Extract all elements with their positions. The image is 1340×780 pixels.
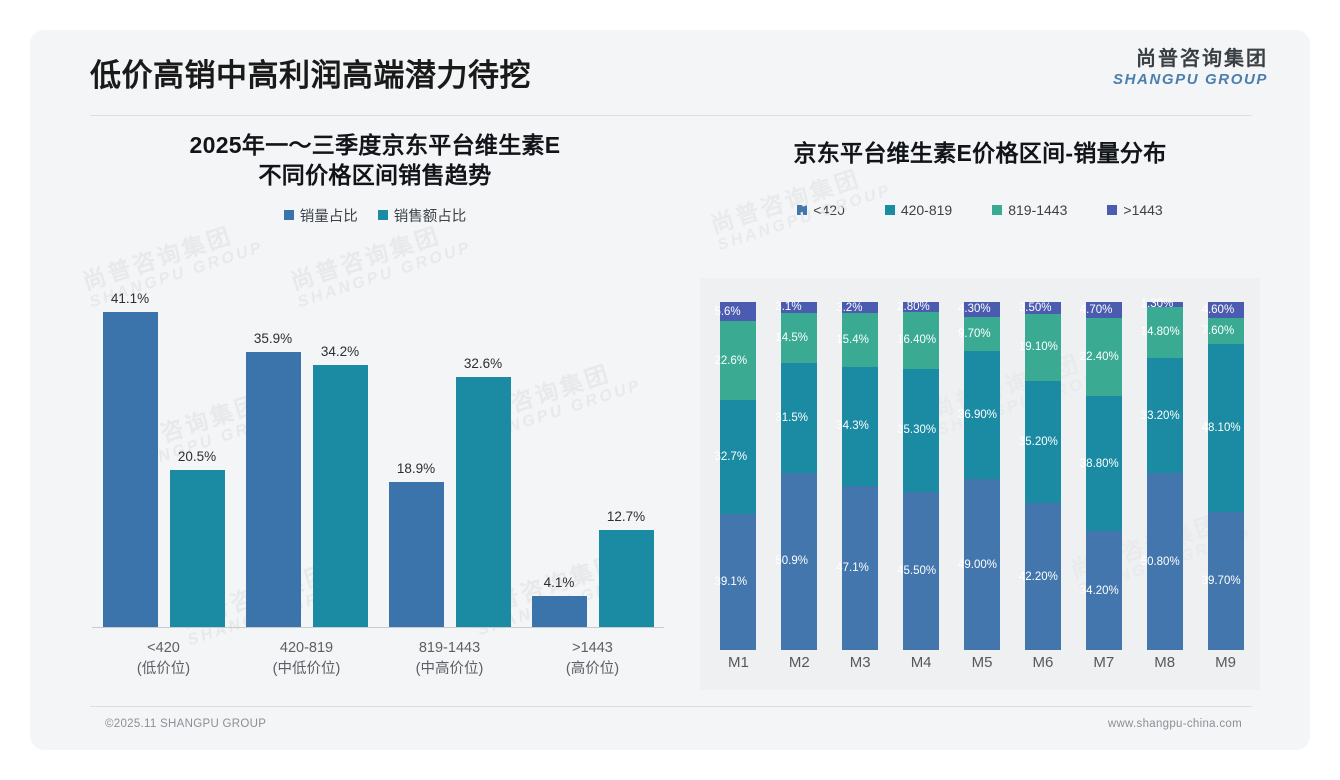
stack-segment-label: 4.70% [1080, 304, 1128, 316]
right-chart-plot: 5.6%22.6%32.7%39.1%3.1%14.5%31.5%50.9%3.… [708, 280, 1256, 690]
stacked-bar-M6[interactable]: 3.50%19.10%35.20%42.20% [1025, 302, 1061, 650]
bar-rect [532, 596, 587, 627]
stacked-bar-M8[interactable]: 1.30%14.80%33.20%50.80% [1147, 302, 1183, 650]
stack-segment-M7->1443: 4.70% [1086, 302, 1122, 318]
stack-segment-label: 19.10% [1019, 341, 1067, 353]
stack-segment-M6-<420: 42.20% [1025, 503, 1061, 650]
bar-value-label: 18.9% [397, 461, 435, 476]
bar-<420-销售额占比[interactable]: 20.5% [170, 282, 225, 627]
stack-segment-label: 45.50% [897, 565, 945, 577]
x-axis-label-819-1443: 819-1443(中高价位) [378, 630, 521, 688]
stack-segment-M2-819-1443: 14.5% [781, 313, 817, 363]
footer-website: www.shangpu-china.com [1108, 718, 1242, 730]
stack-segment-M8-819-1443: 14.80% [1147, 307, 1183, 358]
x-axis-label-<420: <420(低价位) [92, 630, 235, 688]
bar-value-label: 41.1% [111, 291, 149, 306]
x-axis-label-M3: M3 [830, 654, 891, 684]
stack-segment-label: 15.4% [836, 334, 884, 346]
stack-segment-M1-420-819: 32.7% [720, 400, 756, 514]
legend-swatch-icon [797, 205, 807, 215]
right-chart-panel: 尚普咨询集团 SHANGPU GROUP 尚普咨询集团 SHANGPU GROU… [680, 130, 1280, 690]
legend-item-2[interactable]: 销售额占比 [378, 205, 467, 226]
stack-segment-M6->1443: 3.50% [1025, 302, 1061, 314]
legend-item-3[interactable]: 819-1443 [992, 202, 1067, 218]
stack-segment-M5->1443: 4.30% [964, 302, 1000, 317]
stack-segment-label: 4.60% [1202, 304, 1250, 316]
legend-swatch-icon [378, 210, 388, 220]
stack-segment-M4-<420: 45.50% [903, 492, 939, 650]
bar->1443-销量占比[interactable]: 4.1% [532, 282, 587, 627]
bar-value-label: 32.6% [464, 356, 502, 371]
left-chart-plot: 41.1%20.5%35.9%34.2%18.9%32.6%4.1%12.7% … [92, 282, 664, 690]
x-axis-label-420-819: 420-819(中低价位) [235, 630, 378, 688]
left-chart-title-line1: 2025年一～三季度京东平台维生素E [70, 130, 680, 160]
x-axis-label-M8: M8 [1134, 654, 1195, 684]
bar-rect [456, 377, 511, 627]
bar-value-label: 12.7% [607, 509, 645, 524]
legend-item-2[interactable]: 420-819 [885, 202, 952, 218]
stack-column-M5: 4.30%9.70%36.90%49.00% [952, 302, 1013, 650]
slide-header: 低价高销中高利润高端潜力待挖 尚普咨询集团 SHANGPU GROUP [30, 30, 1310, 118]
bar-value-label: 20.5% [178, 449, 216, 464]
stack-segment-M3-819-1443: 15.4% [842, 313, 878, 367]
stack-segment-label: 39.1% [714, 576, 762, 588]
bar-group-<420: 41.1%20.5% [92, 282, 235, 627]
right-chart-legend: <420420-819819-1443>1443 [680, 202, 1280, 218]
left-chart-panel: 尚普咨询集团 SHANGPU GROUP 尚普咨询集团 SHANGPU GROU… [70, 130, 680, 690]
stack-column-M2: 3.1%14.5%31.5%50.9% [769, 302, 830, 650]
right-chart-title: 京东平台维生素E价格区间-销量分布 [680, 130, 1280, 168]
stack-segment-M3->1443: 3.2% [842, 302, 878, 313]
stack-segment-M8-420-819: 33.20% [1147, 358, 1183, 473]
stack-segment-M4->1443: 2.80% [903, 302, 939, 312]
bar-rect [246, 352, 301, 627]
left-chart-title: 2025年一～三季度京东平台维生素E 不同价格区间销售趋势 [70, 130, 680, 191]
stack-segment-label: 3.1% [775, 301, 823, 313]
legend-label: 销量占比 [300, 205, 358, 226]
stack-segment-label: 48.10% [1202, 422, 1250, 434]
stacked-bar-M4[interactable]: 2.80%16.40%35.30%45.50% [903, 302, 939, 650]
stack-segment-M8-<420: 50.80% [1147, 473, 1183, 650]
bar-rect [599, 530, 654, 627]
stack-segment-label: 16.40% [897, 334, 945, 346]
bar-rect [313, 365, 368, 627]
stack-segment-M7-420-819: 38.80% [1086, 396, 1122, 531]
bar-420-819-销售额占比[interactable]: 34.2% [313, 282, 368, 627]
bar->1443-销售额占比[interactable]: 12.7% [599, 282, 654, 627]
stack-segment-M9->1443: 4.60% [1208, 302, 1244, 318]
stack-segment-label: 34.20% [1080, 585, 1128, 597]
stack-segment-M5-<420: 49.00% [964, 479, 1000, 650]
bar-group->1443: 4.1%12.7% [521, 282, 664, 627]
stack-segment-M1-819-1443: 22.6% [720, 321, 756, 400]
stack-segment-M4-420-819: 35.30% [903, 369, 939, 492]
brand-logo: 尚普咨询集团 SHANGPU GROUP [1113, 48, 1268, 89]
stack-segment-label: 7.60% [1202, 325, 1250, 337]
stack-segment-M1->1443: 5.6% [720, 302, 756, 321]
bar-rect [170, 470, 225, 627]
legend-label: 819-1443 [1008, 202, 1067, 218]
legend-swatch-icon [1107, 205, 1117, 215]
stack-segment-M2-<420: 50.9% [781, 473, 817, 650]
stack-segment-label: 3.2% [836, 302, 884, 314]
bar-group-819-1443: 18.9%32.6% [378, 282, 521, 627]
slide-card: 低价高销中高利润高端潜力待挖 尚普咨询集团 SHANGPU GROUP 尚普咨询… [30, 30, 1310, 750]
stack-segment-M2->1443: 3.1% [781, 302, 817, 313]
stack-segment-label: 5.6% [714, 306, 762, 318]
legend-label: 销售额占比 [394, 205, 467, 226]
footer-copyright: ©2025.11 SHANGPU GROUP [105, 718, 266, 730]
slide-canvas: 低价高销中高利润高端潜力待挖 尚普咨询集团 SHANGPU GROUP 尚普咨询… [0, 0, 1340, 780]
x-axis-label->1443: >1443(高价位) [521, 630, 664, 688]
stack-column-M3: 3.2%15.4%34.3%47.1% [830, 302, 891, 650]
left-chart-x-axis [92, 627, 664, 628]
stack-segment-label: 31.5% [775, 412, 823, 424]
stack-column-M8: 1.30%14.80%33.20%50.80% [1134, 302, 1195, 650]
page-title: 低价高销中高利润高端潜力待挖 [90, 50, 531, 95]
left-chart-x-labels: <420(低价位)420-819(中低价位)819-1443(中高价位)>144… [92, 630, 664, 688]
stack-segment-label: 36.90% [958, 409, 1006, 421]
legend-swatch-icon [992, 205, 1002, 215]
stack-segment-label: 47.1% [836, 562, 884, 574]
stack-segment-label: 32.7% [714, 451, 762, 463]
stack-segment-M5-420-819: 36.90% [964, 351, 1000, 480]
right-chart-x-labels: M1M2M3M4M5M6M7M8M9 [708, 654, 1256, 684]
stacked-bar-M5[interactable]: 4.30%9.70%36.90%49.00% [964, 302, 1000, 650]
stack-segment-label: 33.20% [1141, 410, 1189, 422]
left-chart-title-line2: 不同价格区间销售趋势 [70, 160, 680, 190]
stack-segment-label: 22.6% [714, 355, 762, 367]
stack-segment-label: 38.80% [1080, 458, 1128, 470]
bar-value-label: 34.2% [321, 344, 359, 359]
stack-segment-M5-819-1443: 9.70% [964, 317, 1000, 351]
stack-segment-M7-819-1443: 22.40% [1086, 318, 1122, 396]
stack-segment-M3-<420: 47.1% [842, 486, 878, 650]
x-axis-label-M7: M7 [1073, 654, 1134, 684]
stack-segment-M1-<420: 39.1% [720, 514, 756, 650]
stacked-bar-container: 5.6%22.6%32.7%39.1%3.1%14.5%31.5%50.9%3.… [708, 302, 1256, 650]
stacked-bar-M9[interactable]: 4.60%7.60%48.10%39.70% [1208, 302, 1244, 650]
legend-item-1[interactable]: 销量占比 [284, 205, 358, 226]
legend-item-4[interactable]: >1443 [1107, 202, 1162, 218]
bar-420-819-销量占比[interactable]: 35.9% [246, 282, 301, 627]
stack-segment-label: 50.80% [1141, 556, 1189, 568]
stack-segment-label: 22.40% [1080, 351, 1128, 363]
brand-logo-en: SHANGPU GROUP [1113, 71, 1268, 89]
stacked-bar-M3[interactable]: 3.2%15.4%34.3%47.1% [842, 302, 878, 650]
stacked-bar-M2[interactable]: 3.1%14.5%31.5%50.9% [781, 302, 817, 650]
bar-rect [389, 482, 444, 627]
bar-rect [103, 312, 158, 627]
stack-segment-label: 50.9% [775, 555, 823, 567]
bar-group-420-819: 35.9%34.2% [235, 282, 378, 627]
stack-column-M1: 5.6%22.6%32.7%39.1% [708, 302, 769, 650]
bar-819-1443-销量占比[interactable]: 18.9% [389, 282, 444, 627]
stack-segment-M3-420-819: 34.3% [842, 367, 878, 486]
bar-<420-销量占比[interactable]: 41.1% [103, 282, 158, 627]
stack-segment-label: 42.20% [1019, 571, 1067, 583]
stack-column-M4: 2.80%16.40%35.30%45.50% [891, 302, 952, 650]
x-axis-label-M9: M9 [1195, 654, 1256, 684]
stack-segment-M9-819-1443: 7.60% [1208, 318, 1244, 344]
header-divider [90, 115, 1252, 116]
x-axis-label-M2: M2 [769, 654, 830, 684]
x-axis-label-M4: M4 [891, 654, 952, 684]
stack-column-M9: 4.60%7.60%48.10%39.70% [1195, 302, 1256, 650]
stack-column-M6: 3.50%19.10%35.20%42.20% [1012, 302, 1073, 650]
stack-segment-M7-<420: 34.20% [1086, 531, 1122, 650]
legend-swatch-icon [885, 205, 895, 215]
stack-segment-M9-420-819: 48.10% [1208, 344, 1244, 511]
stack-segment-label: 34.3% [836, 420, 884, 432]
stack-segment-M6-420-819: 35.20% [1025, 381, 1061, 503]
x-axis-label-M1: M1 [708, 654, 769, 684]
stack-segment-label: 4.30% [958, 303, 1006, 315]
stack-segment-M6-819-1443: 19.10% [1025, 314, 1061, 380]
stack-segment-label: 39.70% [1202, 575, 1250, 587]
stacked-bar-M7[interactable]: 4.70%22.40%38.80%34.20% [1086, 302, 1122, 650]
bar-value-label: 35.9% [254, 331, 292, 346]
legend-label: >1443 [1123, 202, 1162, 218]
stack-segment-label: 3.50% [1019, 302, 1067, 314]
legend-label: <420 [813, 202, 845, 218]
left-chart-legend: 销量占比销售额占比 [70, 205, 680, 226]
stacked-bar-M1[interactable]: 5.6%22.6%32.7%39.1% [720, 302, 756, 650]
stack-segment-label: 9.70% [958, 328, 1006, 340]
bar-group-container: 41.1%20.5%35.9%34.2%18.9%32.6%4.1%12.7% [92, 282, 664, 627]
stack-segment-label: 14.5% [775, 332, 823, 344]
x-axis-label-M6: M6 [1012, 654, 1073, 684]
legend-label: 420-819 [901, 202, 952, 218]
legend-swatch-icon [284, 210, 294, 220]
x-axis-label-M5: M5 [952, 654, 1013, 684]
stack-segment-label: 35.20% [1019, 436, 1067, 448]
stack-segment-M4-819-1443: 16.40% [903, 312, 939, 369]
stack-segment-label: 35.30% [897, 424, 945, 436]
brand-logo-cn: 尚普咨询集团 [1113, 48, 1268, 71]
footer-divider [90, 706, 1252, 707]
stack-column-M7: 4.70%22.40%38.80%34.20% [1073, 302, 1134, 650]
stack-segment-label: 14.80% [1141, 326, 1189, 338]
stack-segment-M2-420-819: 31.5% [781, 363, 817, 473]
legend-item-1[interactable]: <420 [797, 202, 845, 218]
bar-819-1443-销售额占比[interactable]: 32.6% [456, 282, 511, 627]
stack-segment-M9-<420: 39.70% [1208, 512, 1244, 650]
bar-value-label: 4.1% [544, 575, 575, 590]
stack-segment-label: 49.00% [958, 559, 1006, 571]
